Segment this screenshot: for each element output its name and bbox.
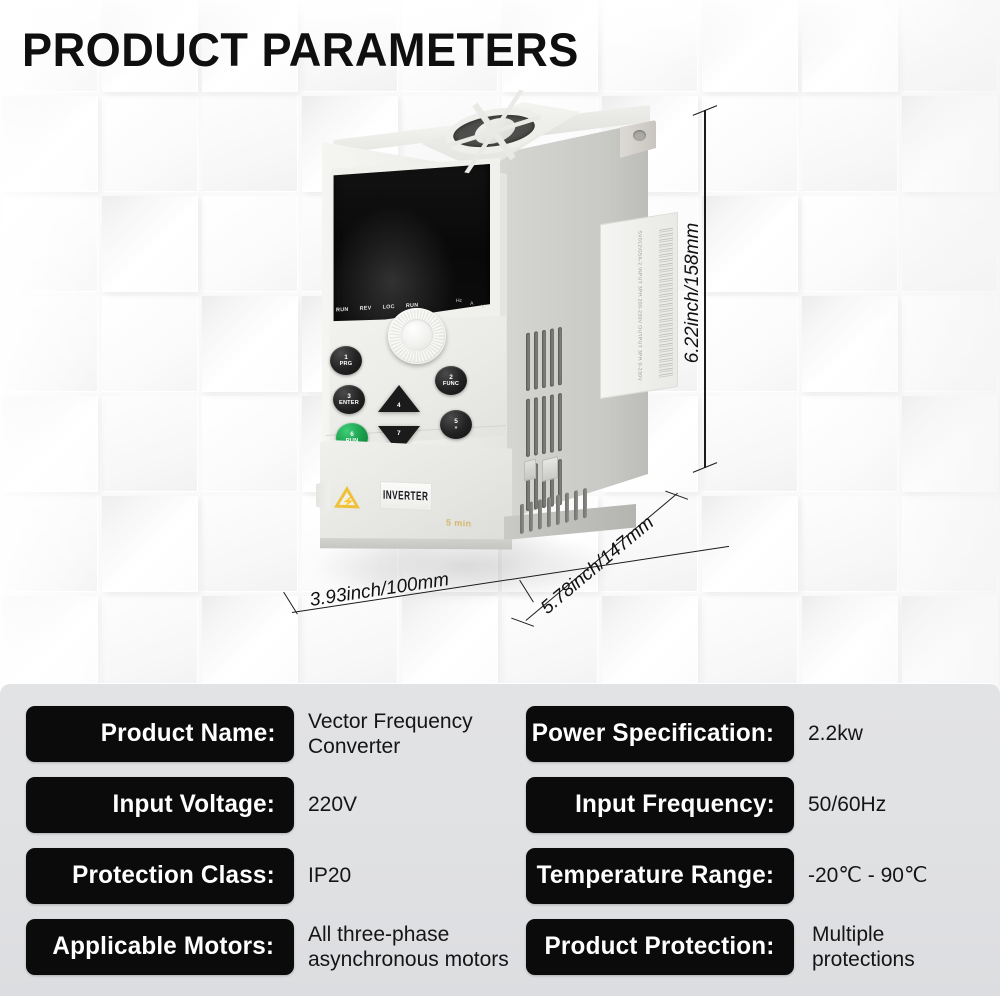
background-tile [802,396,898,492]
button-prg-number: 1 [344,354,348,361]
background-tile [902,496,998,592]
led-indicator-rev: REV [360,305,372,312]
unit-indicator-hz: Hz [456,298,462,312]
background-tile [902,0,998,92]
spec-value-temperature-range: -20℃ - 90℃ [794,863,988,888]
spec-label-product-protection: Product Protection: [526,919,794,975]
cover-notch [316,478,330,512]
spec-label-temperature-range-text: Temperature Range: [537,861,775,890]
specifications-grid: Product Name: Vector Frequency Converter… [26,698,988,986]
background-tile [102,496,198,592]
background-tile [902,396,998,492]
spec-label-protection-class: Protection Class: [26,848,294,904]
background-tile [102,596,198,690]
dimension-depth: 5.78inch/147mm [520,470,730,650]
spec-label-input-frequency-text: Input Frequency: [575,790,775,819]
background-tile [2,596,98,690]
background-tile [802,0,898,92]
button-func-label: FUNC [443,381,459,388]
spec-label-power-specification-text: Power Specification: [532,719,774,748]
spec-label-product-name-text: Product Name: [100,719,275,748]
background-tile [2,496,98,592]
background-tile [602,0,698,92]
spec-value-protection-class: IP20 [294,863,514,888]
background-tile [2,96,98,192]
unit-indicator-a: A [470,301,474,311]
background-tile [902,96,998,192]
dimension-width-label: 3.93inch/100mm [308,569,450,612]
background-tile [102,196,198,292]
spec-label-protection-class-text: Protection Class: [72,861,275,890]
background-tile [902,296,998,392]
button-up-number: 4 [397,402,401,409]
dimension-height-line [704,110,706,468]
inverter-badge-label: INVERTER [383,488,428,503]
button-enter-label: ENTER [339,400,359,407]
led-indicator-run1: RUN [336,307,349,314]
dimension-height-label: 6.22inch/158mm [682,148,704,438]
button-func-number: 2 [449,374,453,381]
specifications-panel: Product Name: Vector Frequency Converter… [0,684,1000,996]
spec-label-input-frequency: Input Frequency: [526,777,794,833]
background-tile [802,496,898,592]
button-func[interactable]: 2 FUNC [435,366,467,395]
background-tile [2,396,98,492]
background-tile [702,0,798,92]
button-prg-label: PRG [340,361,353,368]
dimension-width-tick-left [283,592,298,615]
product-parameters-page: PRODUCT PARAMETERS SV012iG5A-2 INPUT 3PH… [0,0,1000,996]
warning-bolt-icon: ⚡ [342,497,354,508]
background-tile [802,196,898,292]
background-tile [2,296,98,392]
spec-label-input-voltage: Input Voltage: [26,777,294,833]
background-tile [802,596,898,690]
button-shift-number: 5 [454,418,458,425]
background-tile [2,196,98,292]
side-spec-sticker-text: SV012iG5A-2 INPUT 3PH 200-230V OUTPUT 3P… [636,221,643,390]
spec-label-product-protection-text: Product Protection: [544,932,774,961]
background-tile [102,96,198,192]
dimension-depth-label: 5.78inch/147mm [537,512,659,619]
led-indicator-loc: LOC [383,304,395,311]
background-tile [802,96,898,192]
button-down-number: 7 [397,430,401,437]
spec-label-product-name: Product Name: [26,706,294,762]
button-prg[interactable]: 1 PRG [330,346,362,375]
spec-label-applicable-motors-text: Applicable Motors: [53,932,275,961]
dimension-height: 6.22inch/158mm [660,110,730,480]
button-run-number: 6 [350,431,354,438]
background-tile [802,296,898,392]
spec-value-applicable-motors: All three-phase asynchronous motors [294,922,514,972]
spec-label-temperature-range: Temperature Range: [526,848,794,904]
standby-time-text: 5 min [446,517,472,528]
page-title: PRODUCT PARAMETERS [22,22,579,77]
unit-indicator-row: Hz A V [456,296,485,312]
spec-value-product-name: Vector Frequency Converter [294,709,514,759]
vent-slots-upper [526,327,562,391]
background-tile [902,596,998,690]
mounting-hole [633,130,646,141]
background-tile [102,396,198,492]
spec-label-applicable-motors: Applicable Motors: [26,919,294,975]
inverter-badge: INVERTER [380,481,432,511]
background-tile [102,296,198,392]
button-shift-label: » [454,425,457,432]
unit-indicator-v: V [481,304,484,310]
vent-slots-middle [526,393,562,457]
spec-label-power-specification: Power Specification: [526,706,794,762]
spec-value-power-specification: 2.2kw [794,721,988,746]
background-tile [902,196,998,292]
spec-value-product-protection: Multiple protections [794,922,988,972]
potentiometer-knob[interactable] [388,308,446,364]
button-enter-number: 3 [347,393,351,400]
spec-value-input-voltage: 220V [294,792,514,817]
spec-label-input-voltage-text: Input Voltage: [113,790,276,819]
button-enter[interactable]: 3 ENTER [333,385,365,414]
button-shift[interactable]: 5 » [440,410,472,439]
spec-value-input-frequency: 50/60Hz [794,792,988,817]
